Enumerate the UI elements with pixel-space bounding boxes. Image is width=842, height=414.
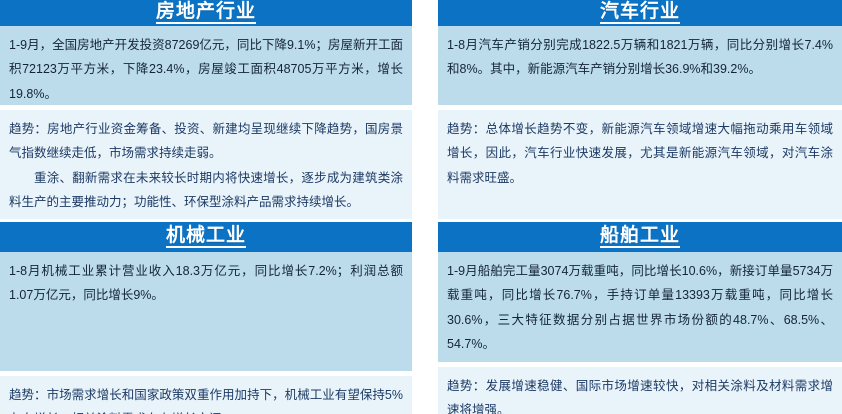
panel-header-automotive: 汽车行业 [438, 0, 842, 26]
panel-header-machinery: 机械工业 [0, 222, 412, 252]
trend-paragraph-1: 趋势：发展增速稳健、国际市场增速较快，对相关涂料及材料需求增速将增强。 [447, 374, 833, 414]
trend-paragraph-2: 重涂、翻新需求在未来较长时期内将快速增长，逐步成为建筑类涂料生产的主要推动力；功… [9, 166, 403, 215]
panel-trend-real-estate: 趋势：房地产行业资金筹备、投资、新建均呈现继续下降趋势，国房景气指数继续走低，市… [0, 110, 412, 219]
panel-machinery: 机械工业 1-8月机械工业累计营业收入18.3万亿元，同比增长7.2%；利润总额… [0, 222, 412, 414]
panel-header-shipbuilding: 船舶工业 [438, 222, 842, 252]
panel-data-real-estate: 1-9月，全国房地产开发投资87269亿元，同比下降9.1%；房屋新开工面积72… [0, 26, 412, 105]
panel-data-automotive: 1-8月汽车产销分别完成1822.5万辆和1821万辆，同比分别增长7.4%和8… [438, 26, 842, 105]
panel-trend-automotive: 趋势：总体增长趋势不变，新能源汽车领域增速大幅拖动乘用车领域增长，因此，汽车行业… [438, 110, 842, 219]
industry-panels-page: 房地产行业 1-9月，全国房地产开发投资87269亿元，同比下降9.1%；房屋新… [0, 0, 842, 414]
panel-title-automotive: 汽车行业 [600, 2, 680, 24]
trend-paragraph-1: 趋势：市场需求增长和国家政策双重作用加持下，机械工业有望保持5%左右增长，相关涂… [9, 383, 403, 414]
panel-data-machinery: 1-8月机械工业累计营业收入18.3万亿元，同比增长7.2%；利润总额1.07万… [0, 252, 412, 371]
panel-title-shipbuilding: 船舶工业 [600, 226, 680, 248]
panel-real-estate: 房地产行业 1-9月，全国房地产开发投资87269亿元，同比下降9.1%；房屋新… [0, 0, 412, 219]
panel-title-real-estate: 房地产行业 [156, 2, 256, 24]
panel-trend-machinery: 趋势：市场需求增长和国家政策双重作用加持下，机械工业有望保持5%左右增长，相关涂… [0, 376, 412, 414]
trend-paragraph-1: 趋势：总体增长趋势不变，新能源汽车领域增速大幅拖动乘用车领域增长，因此，汽车行业… [447, 117, 833, 190]
panel-title-machinery: 机械工业 [166, 226, 246, 248]
panel-header-real-estate: 房地产行业 [0, 0, 412, 26]
trend-paragraph-1: 趋势：房地产行业资金筹备、投资、新建均呈现继续下降趋势，国房景气指数继续走低，市… [9, 117, 403, 166]
column-gap [412, 0, 438, 219]
panel-data-shipbuilding: 1-9月船舶完工量3074万载重吨，同比增长10.6%，新接订单量5734万载重… [438, 252, 842, 362]
panel-automotive: 汽车行业 1-8月汽车产销分别完成1822.5万辆和1821万辆，同比分别增长7… [438, 0, 842, 219]
panel-trend-shipbuilding: 趋势：发展增速稳健、国际市场增速较快，对相关涂料及材料需求增速将增强。 [438, 367, 842, 414]
panel-shipbuilding: 船舶工业 1-9月船舶完工量3074万载重吨，同比增长10.6%，新接订单量57… [438, 222, 842, 414]
